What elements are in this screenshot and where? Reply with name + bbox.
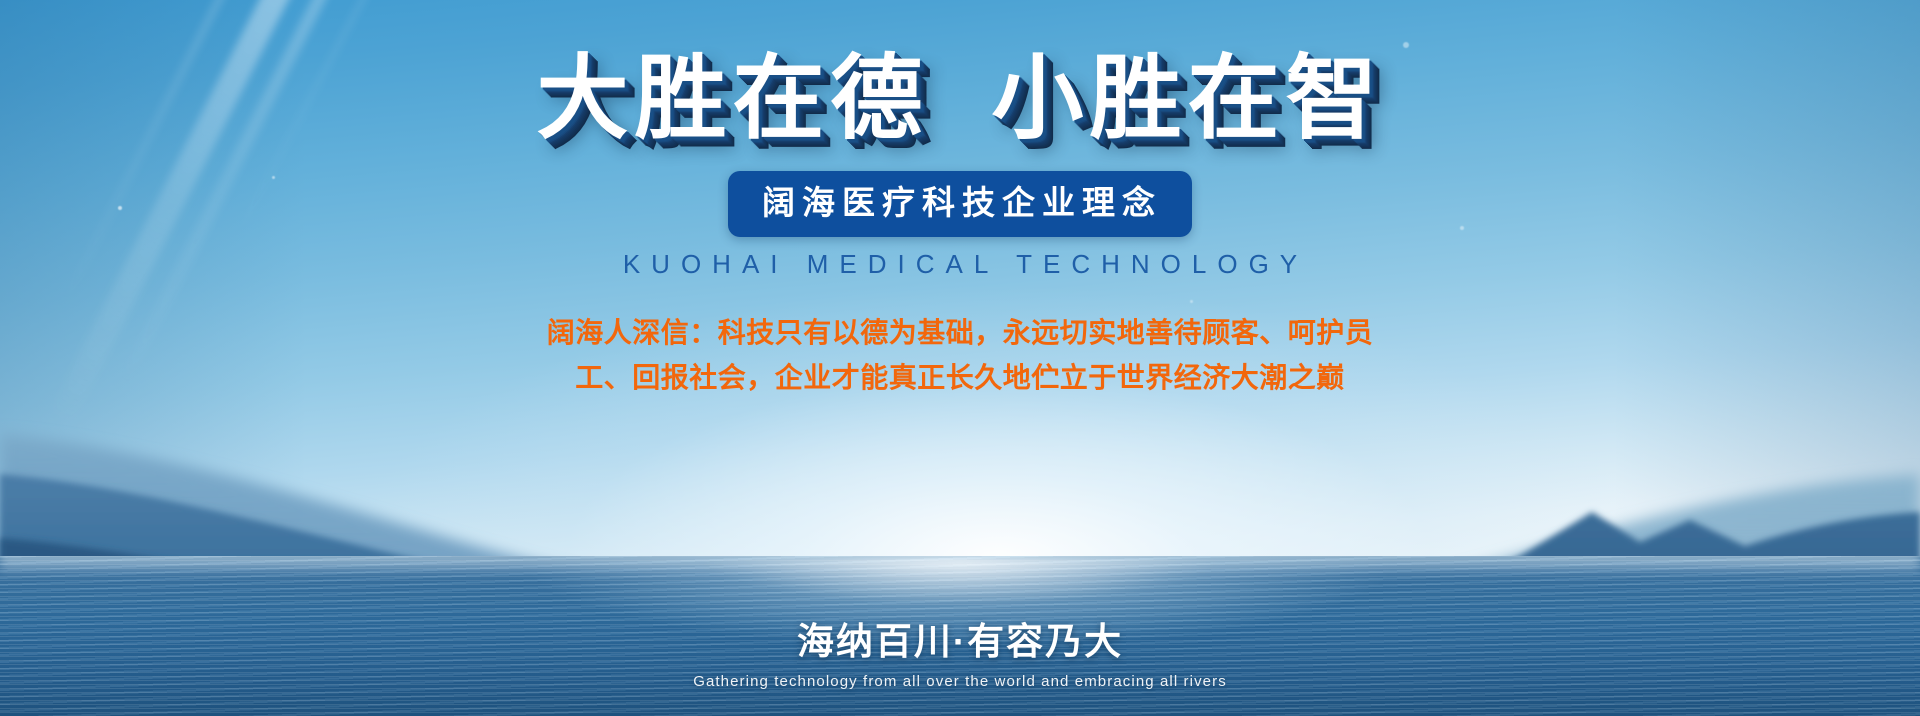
hero-banner: 大胜在德 小胜在智 阔海医疗科技企业理念 KUOHAI MEDICAL TECH… <box>0 0 1920 716</box>
sea-motto-chinese: 海纳百川·有容乃大 <box>0 611 1920 665</box>
philosophy-statement: 阔海人深信：科技只有以德为基础，永远切实地善待顾客、呵护员 工、回报社会，企业才… <box>450 310 1470 401</box>
sea-motto-english: Gathering technology from all over the w… <box>0 673 1920 690</box>
statement-line-1: 阔海人深信：科技只有以德为基础，永远切实地善待顾客、呵护员 <box>450 310 1470 355</box>
banner-content: 大胜在德 小胜在智 阔海医疗科技企业理念 KUOHAI MEDICAL TECH… <box>0 0 1920 716</box>
statement-line-2: 工、回报社会，企业才能真正长久地伫立于世界经济大潮之巅 <box>450 355 1470 400</box>
sea-motto-block: 海纳百川·有容乃大 Gathering technology from all … <box>0 611 1920 690</box>
main-headline: 大胜在德 小胜在智 <box>536 50 1383 149</box>
philosophy-badge: 阔海医疗科技企业理念 <box>728 171 1192 236</box>
english-subtitle: KUOHAI MEDICAL TECHNOLOGY <box>612 249 1308 280</box>
